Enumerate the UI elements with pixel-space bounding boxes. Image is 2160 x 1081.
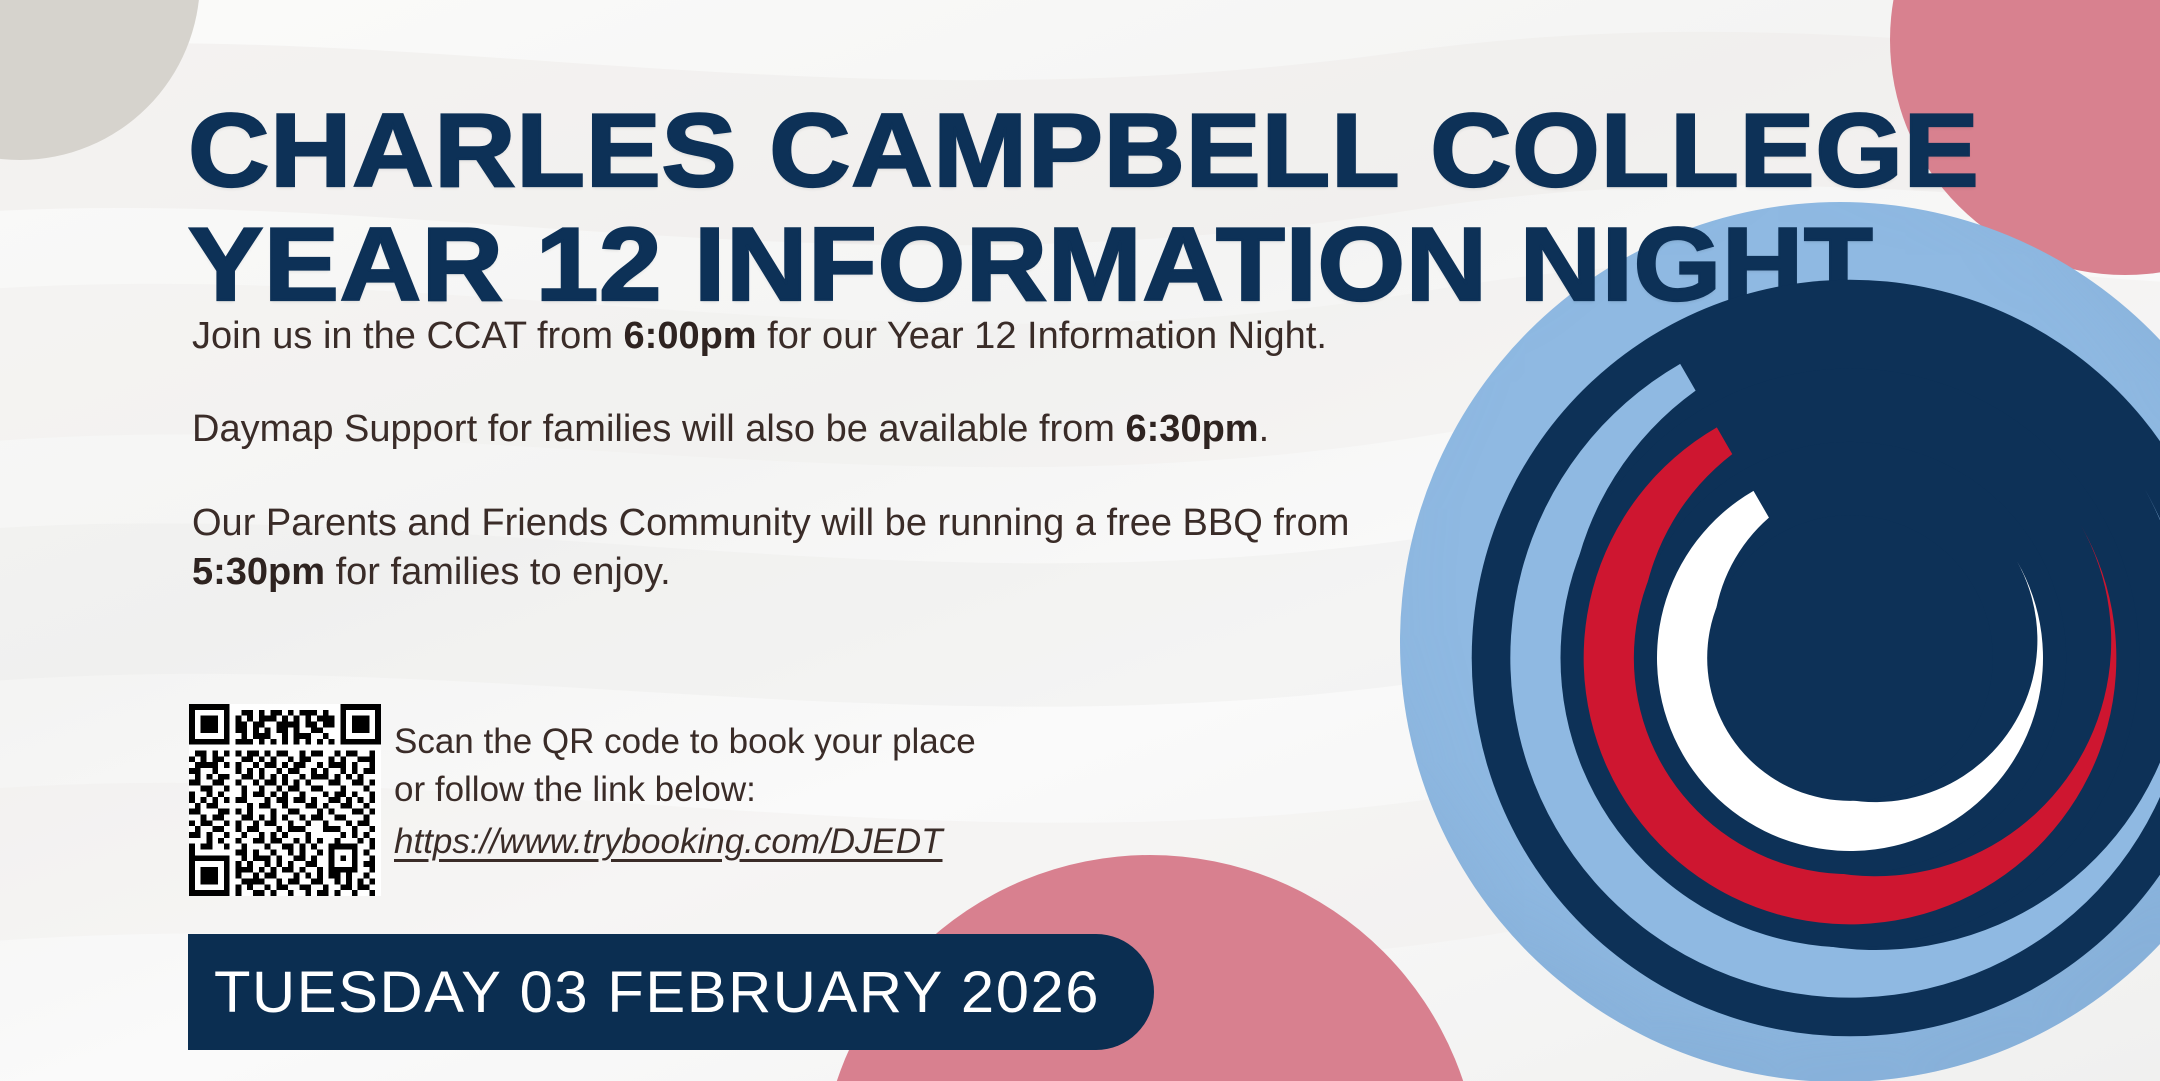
- date-banner: TUESDAY 03 FEBRUARY 2026: [188, 934, 1154, 1050]
- paragraph-bbq: Our Parents and Friends Community will b…: [192, 499, 1372, 598]
- time-highlight: 6:00pm: [624, 315, 757, 357]
- page-title-line-1: CHARLES CAMPBELL COLLEGE: [188, 98, 2098, 204]
- qr-instruction-text: Scan the QR code to book your place or f…: [394, 718, 1134, 866]
- qr-code-icon[interactable]: [189, 704, 381, 896]
- event-details-text: Join us in the CCAT from 6:00pm for our …: [192, 312, 1372, 598]
- paragraph-text-after: for families to enjoy.: [325, 551, 671, 593]
- time-highlight: 6:30pm: [1126, 408, 1259, 450]
- paragraph-text-after: for our Year 12 Information Night.: [757, 315, 1327, 357]
- paragraph-daymap-support: Daymap Support for families will also be…: [192, 405, 1372, 454]
- booking-link[interactable]: https://www.trybooking.com/DJEDT: [394, 818, 943, 866]
- date-banner-text: TUESDAY 03 FEBRUARY 2026: [214, 959, 1100, 1026]
- paragraph-text-before: Our Parents and Friends Community will b…: [192, 502, 1349, 544]
- paragraph-ccat-start: Join us in the CCAT from 6:00pm for our …: [192, 312, 1372, 361]
- qr-instruction-line-2: or follow the link below:: [394, 766, 1134, 814]
- school-crescent-logo-icon: [1464, 272, 2160, 1044]
- time-highlight: 5:30pm: [192, 551, 325, 593]
- paragraph-text-before: Daymap Support for families will also be…: [192, 408, 1126, 450]
- paragraph-text-after: .: [1259, 408, 1270, 450]
- qr-instruction-line-1: Scan the QR code to book your place: [394, 718, 1134, 766]
- paragraph-text-before: Join us in the CCAT from: [192, 315, 624, 357]
- poster-canvas: CHARLES CAMPBELL COLLEGE YEAR 12 INFORMA…: [0, 0, 2160, 1081]
